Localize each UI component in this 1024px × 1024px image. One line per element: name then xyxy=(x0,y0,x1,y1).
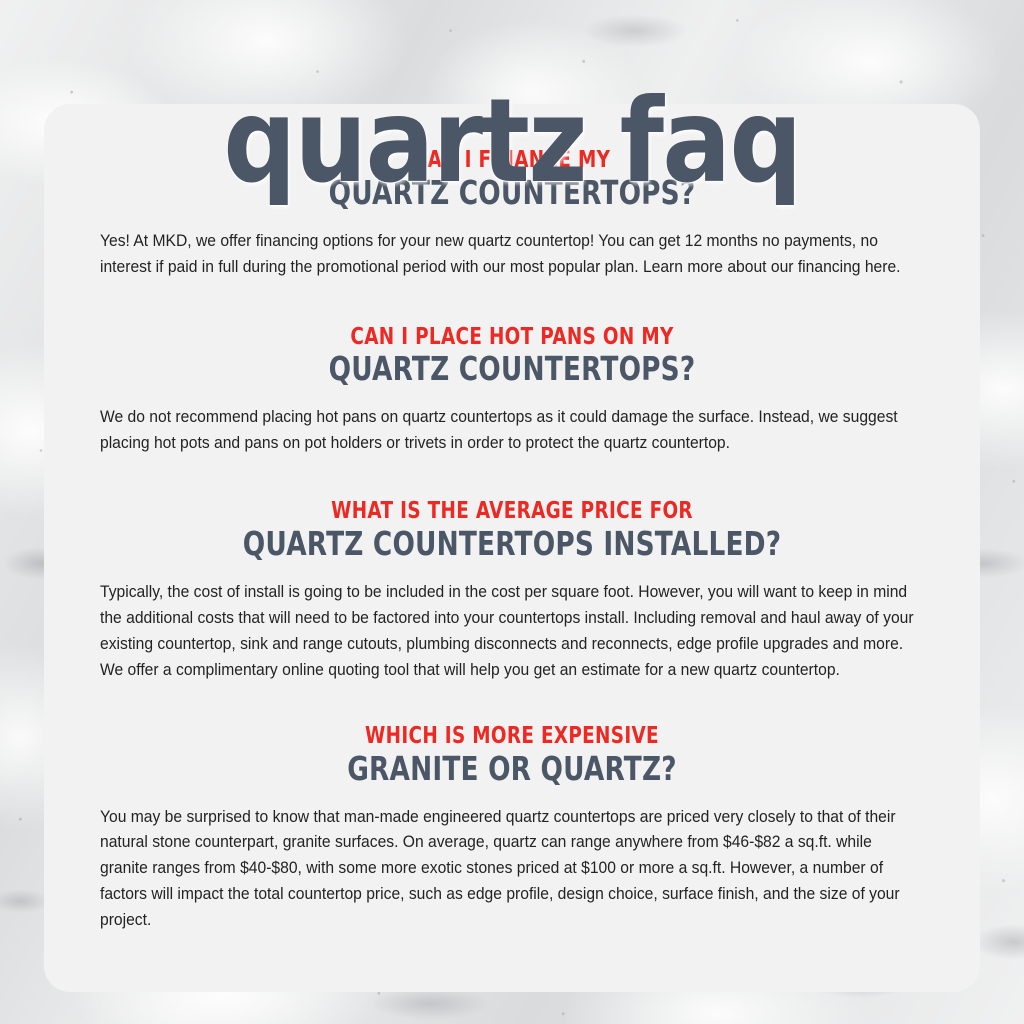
faq-list: Can I Finance My Quartz Countertops? Yes… xyxy=(44,104,980,934)
faq-card: Can I Finance My Quartz Countertops? Yes… xyxy=(44,104,980,992)
faq-question-line-2: Quartz Countertops? xyxy=(182,351,841,388)
page-title: quartz faq xyxy=(61,84,962,200)
faq-item: What Is The Average Price For Quartz Cou… xyxy=(100,499,924,683)
faq-answer: Typically, the cost of install is going … xyxy=(100,580,924,684)
faq-infographic: quartz faq Can I Finance My Quartz Count… xyxy=(0,0,1024,1024)
faq-answer: You may be surprised to know that man-ma… xyxy=(100,805,924,935)
faq-answer: We do not recommend placing hot pans on … xyxy=(100,405,924,457)
faq-question-line-2: Granite Or Quartz? xyxy=(182,751,841,788)
faq-item: Which Is More Expensive Granite Or Quart… xyxy=(100,724,924,934)
faq-question-line-1: What Is The Average Price For xyxy=(182,499,841,524)
faq-item: Can I Place Hot Pans On My Quartz Counte… xyxy=(100,325,924,458)
faq-answer: Yes! At MKD, we offer financing options … xyxy=(100,229,924,281)
faq-question-line-1: Can I Place Hot Pans On My xyxy=(182,325,841,350)
faq-question-line-1: Which Is More Expensive xyxy=(182,724,841,749)
faq-question-line-2: Quartz Countertops Installed? xyxy=(182,526,841,563)
